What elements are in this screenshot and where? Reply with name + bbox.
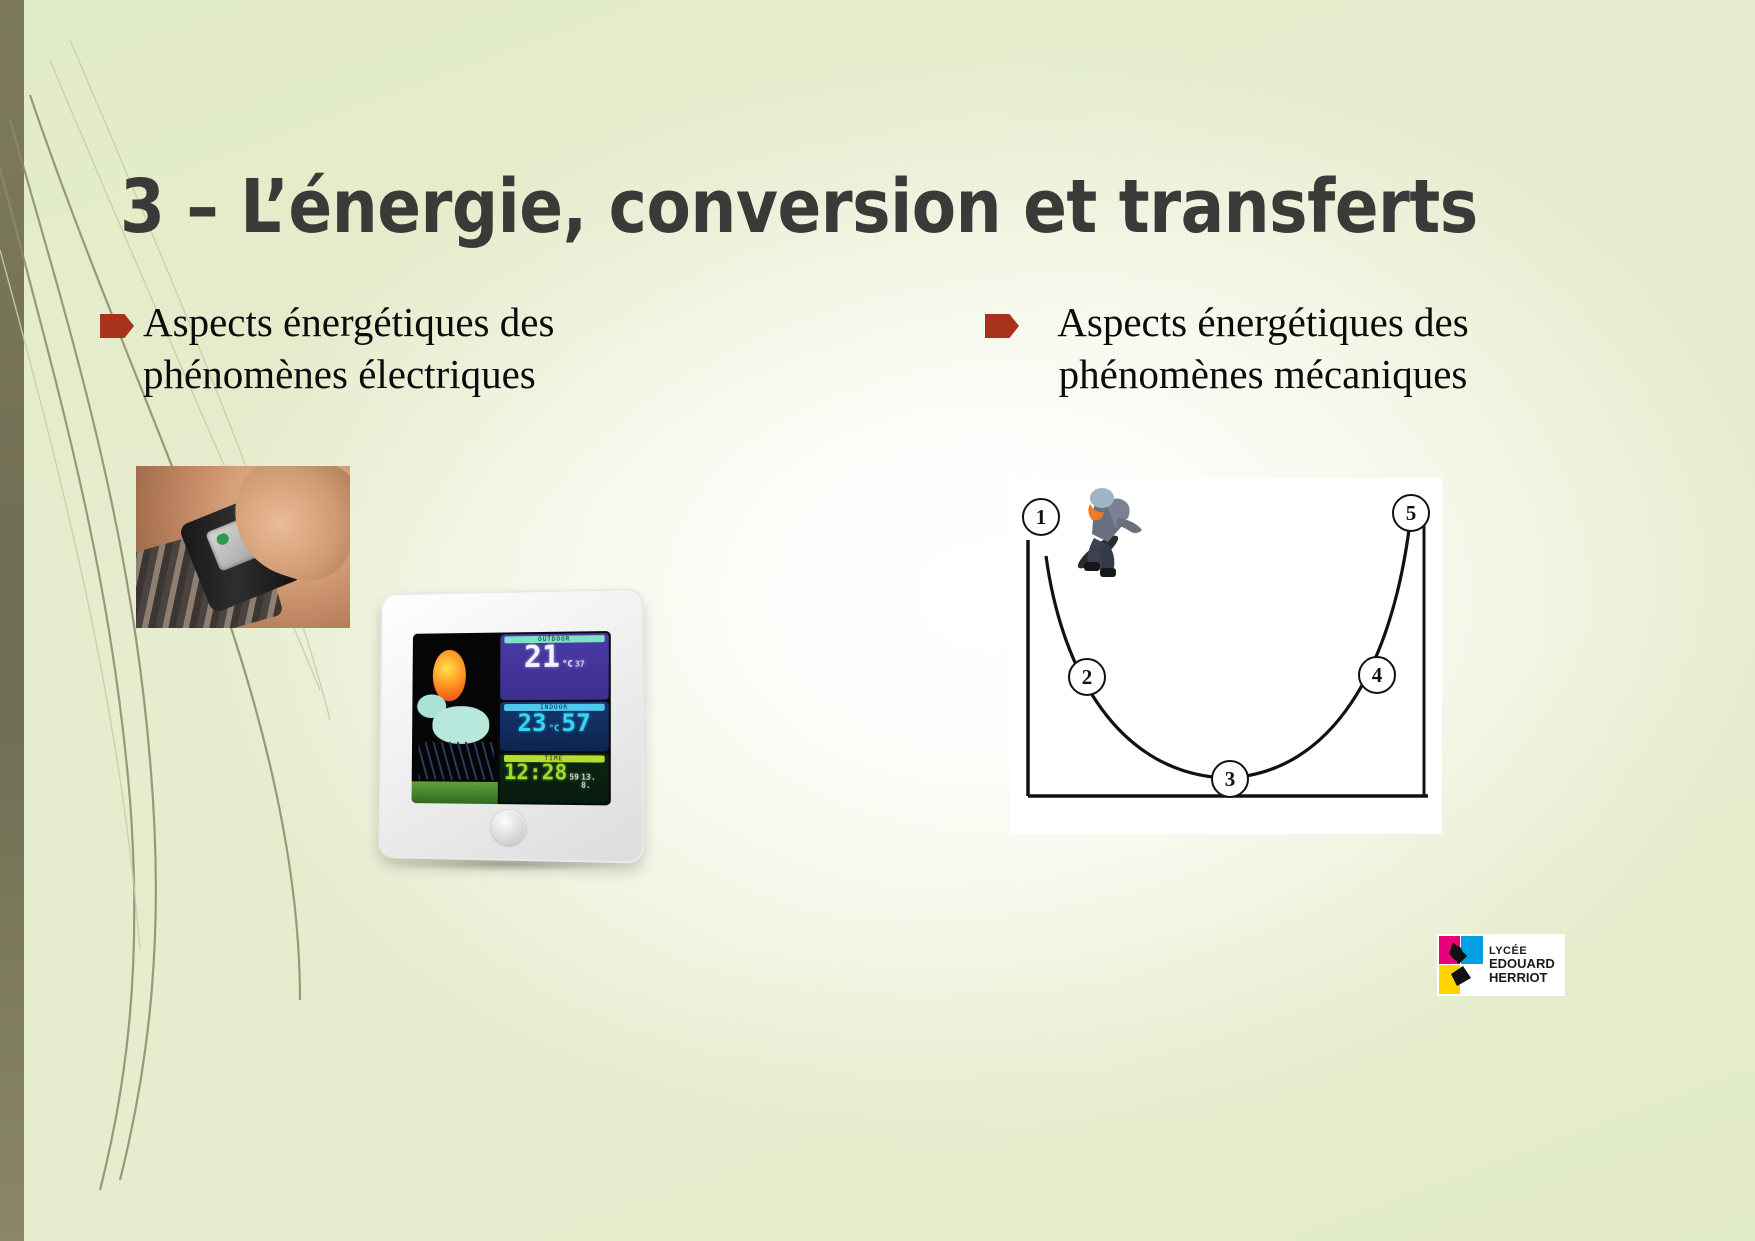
outdoor-temp-high: 37 xyxy=(575,660,585,668)
weather-station-body: OUTDOOR 21 °C 37 INDOOR 23 °C 57 xyxy=(378,588,644,863)
outdoor-panel: OUTDOOR 21 °C 37 xyxy=(500,633,609,700)
position-marker-3: 3 xyxy=(1211,760,1249,798)
lycee-edouard-herriot-logo: LYCÉE EDOUARD HERRIOT xyxy=(1437,934,1565,996)
logo-line-3: HERRIOT xyxy=(1489,971,1565,985)
clock-time-value: 12:28 xyxy=(504,762,567,784)
indoor-humidity-value: 57 xyxy=(561,710,590,734)
weather-station-photo: OUTDOOR 21 °C 37 INDOOR 23 °C 57 xyxy=(364,578,654,878)
clock-seconds: 59 xyxy=(569,773,579,781)
position-marker-5: 5 xyxy=(1392,494,1430,532)
logo-line-2: EDOUARD xyxy=(1489,957,1565,971)
cloud-icon-large xyxy=(432,706,489,744)
indoor-readout: 23 °C 57 xyxy=(504,710,605,734)
position-marker-2: 2 xyxy=(1068,658,1106,696)
bullet-row-right: Aspects énergétiques des phénomènes méca… xyxy=(975,296,1515,401)
smart-watch-photo xyxy=(136,466,350,628)
position-marker-4: 4 xyxy=(1358,656,1396,694)
grass-icon xyxy=(412,781,498,804)
indoor-panel: INDOOR 23 °C 57 xyxy=(500,701,609,751)
weather-forecast-panel xyxy=(412,633,499,805)
slide-canvas: 3 – L’énergie, conversion et transferts … xyxy=(0,0,1755,1241)
indoor-temp-unit: °C xyxy=(548,725,559,734)
weather-station-screen: OUTDOOR 21 °C 37 INDOOR 23 °C 57 xyxy=(412,631,611,805)
left-accent-bar xyxy=(0,0,24,1241)
arrow-bullet-icon xyxy=(100,314,134,338)
left-bullet-text: Aspects énergétiques des phénomènes élec… xyxy=(143,296,720,401)
halfpipe-diagram: 1 2 3 4 5 xyxy=(1010,478,1442,834)
weather-station-button[interactable] xyxy=(492,810,526,845)
logo-mark-icon xyxy=(1437,934,1485,996)
sun-icon xyxy=(433,650,466,701)
left-bullet-block: Aspects énergétiques des phénomènes élec… xyxy=(100,296,720,401)
clock-date: 13. 8. xyxy=(581,773,605,789)
arrow-bullet-icon xyxy=(985,314,1019,338)
weather-readouts: OUTDOOR 21 °C 37 INDOOR 23 °C 57 xyxy=(498,631,611,805)
position-marker-1: 1 xyxy=(1022,498,1060,536)
snowboarder-figure xyxy=(1054,484,1164,604)
time-panel: TIME 12:28 59 13. 8. xyxy=(500,753,609,804)
logo-wordmark: LYCÉE EDOUARD HERRIOT xyxy=(1485,934,1565,996)
outdoor-temp-value: 21 xyxy=(524,643,560,673)
right-bullet-block: Aspects énergétiques des phénomènes méca… xyxy=(975,296,1515,401)
slide-title: 3 – L’énergie, conversion et transferts xyxy=(120,170,1594,245)
rain-icon xyxy=(419,742,495,780)
bullet-row-left: Aspects énergétiques des phénomènes élec… xyxy=(100,296,720,401)
right-bullet-text: Aspects énergétiques des phénomènes méca… xyxy=(1028,296,1498,401)
outdoor-temp-unit: °C xyxy=(562,661,573,670)
outdoor-temperature: 21 °C 37 xyxy=(504,642,604,673)
indoor-temp-value: 23 xyxy=(518,711,547,735)
clock-readout: 12:28 59 13. 8. xyxy=(504,762,605,790)
